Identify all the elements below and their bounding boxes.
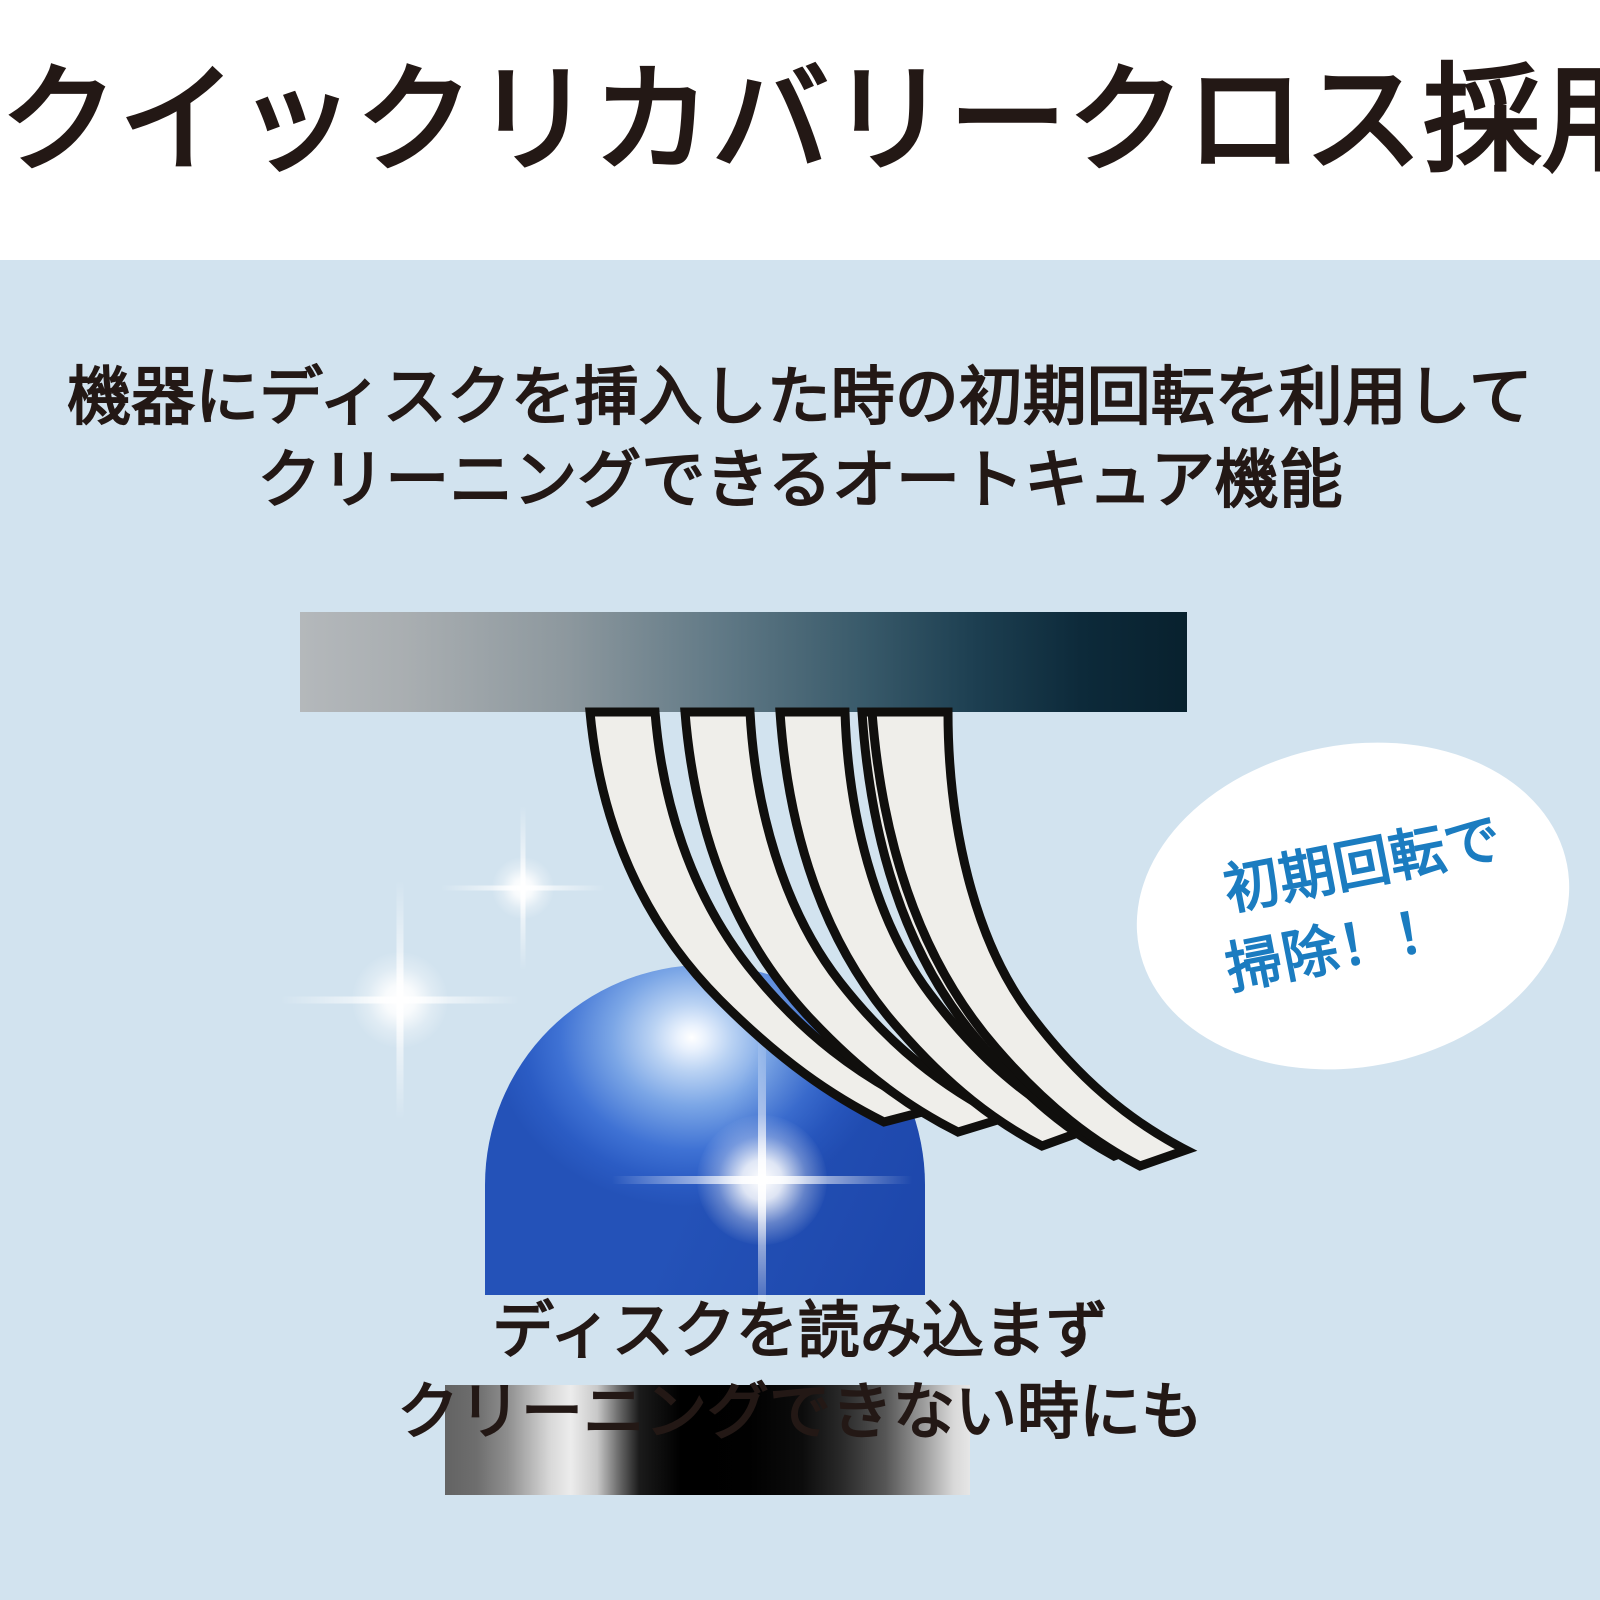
page-title: クイックリカバリークロス採用 [0, 62, 1600, 180]
infographic-page: クイックリカバリークロス採用 機器にディスクを挿入した時の初期回転を利用して ク… [0, 0, 1600, 1600]
caption-line-2: クリーニングできない時にも [0, 1373, 1600, 1454]
caption-block: ディスクを読み込まず クリーニングできない時にも [0, 1292, 1600, 1453]
content-area: 機器にディスクを挿入した時の初期回転を利用して クリーニングできるオートキュア機… [0, 260, 1600, 1600]
caption-line-1: ディスクを読み込まず [0, 1292, 1600, 1373]
header-band: クイックリカバリークロス採用 [0, 0, 1600, 260]
